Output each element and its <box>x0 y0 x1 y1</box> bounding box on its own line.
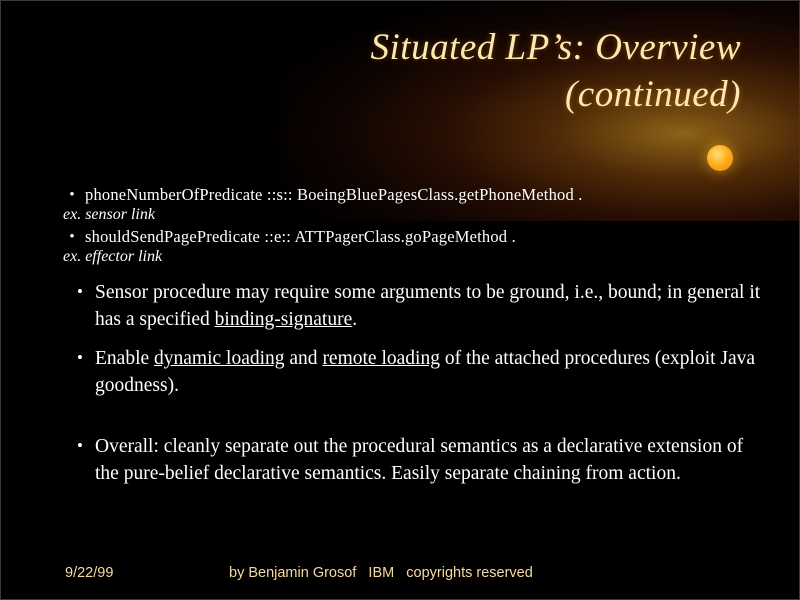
bullet-icon: • <box>45 433 95 459</box>
bullet-icon: • <box>45 279 95 305</box>
list-item-segment: and <box>285 348 323 369</box>
title-divider-bar <box>65 149 725 166</box>
list-item-subtext: ex. effector link <box>63 247 761 267</box>
list-item-text: shouldSendPagePredicate ::e:: ATTPagerCl… <box>85 227 761 267</box>
slide: Situated LP’s: Overview (continued) • ph… <box>0 0 800 600</box>
list-item-text: phoneNumberOfPredicate ::s:: BoeingBlueP… <box>85 185 761 225</box>
list-item: • shouldSendPagePredicate ::e:: ATTPager… <box>45 227 761 267</box>
list-item-underlined-term: remote loading <box>322 348 440 369</box>
list-item-segment: Enable <box>95 348 154 369</box>
footer-date: 9/22/99 <box>65 565 113 581</box>
bullet-icon: • <box>45 345 95 371</box>
list-item: • phoneNumberOfPredicate ::s:: BoeingBlu… <box>45 185 761 225</box>
slide-body: • phoneNumberOfPredicate ::s:: BoeingBlu… <box>45 185 761 487</box>
bullet-icon: • <box>45 185 85 205</box>
slide-title-line-1: Situated LP’s: Overview <box>61 25 741 72</box>
bullet-icon: • <box>45 227 85 247</box>
list-item-text: Enable dynamic loading and remote loadin… <box>95 345 761 399</box>
body-spacer <box>45 399 761 421</box>
list-item-segment: Sensor procedure may require some argume… <box>95 282 760 330</box>
list-item-segment: . <box>352 309 357 330</box>
list-item: • Overall: cleanly separate out the proc… <box>45 433 761 487</box>
footer-credit: by Benjamin Grosof IBM copyrights reserv… <box>229 565 533 581</box>
list-item: • Sensor procedure may require some argu… <box>45 279 761 333</box>
list-item-text: Overall: cleanly separate out the proced… <box>95 433 761 487</box>
divider-endcap-icon <box>707 145 733 171</box>
list-item-main: phoneNumberOfPredicate ::s:: BoeingBlueP… <box>85 185 583 204</box>
slide-title-line-2: (continued) <box>61 72 741 119</box>
list-item-main: shouldSendPagePredicate ::e:: ATTPagerCl… <box>85 227 516 246</box>
slide-title: Situated LP’s: Overview (continued) <box>61 25 741 118</box>
list-item-underlined-term: dynamic loading <box>154 348 285 369</box>
list-item-subtext: ex. sensor link <box>63 205 761 225</box>
list-item-text: Sensor procedure may require some argume… <box>95 279 761 333</box>
list-item: • Enable dynamic loading and remote load… <box>45 345 761 399</box>
list-item-underlined-term: binding-signature <box>215 309 353 330</box>
